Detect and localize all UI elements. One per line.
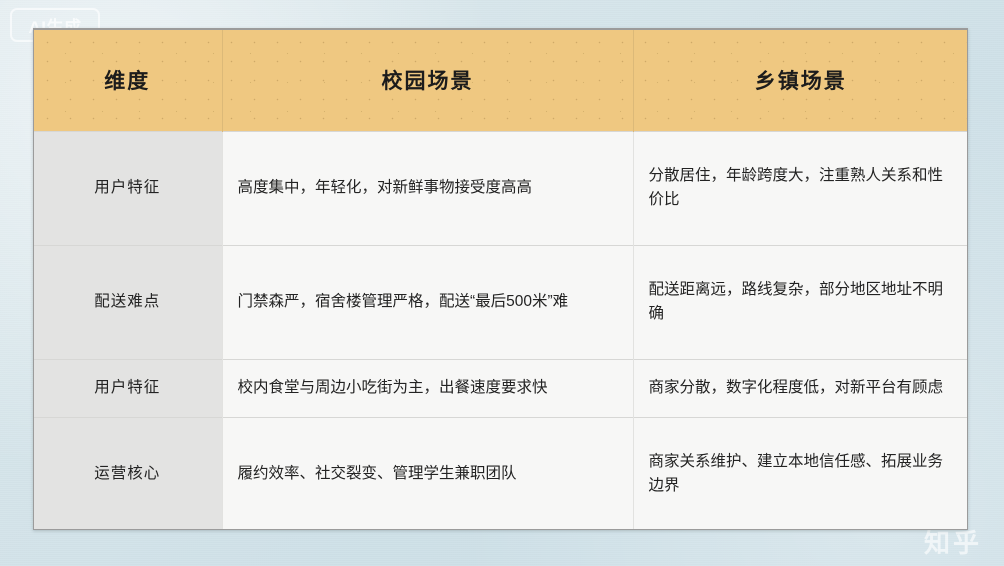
column-header-campus: 校园场景 <box>222 28 633 132</box>
cell-campus-text: 履约效率、社交裂变、管理学生兼职团队 <box>238 462 619 486</box>
cell-campus: 高度集中，年轻化，对新鲜事物接受度高高 <box>222 132 633 246</box>
table-header-row: 维度 校园场景 乡镇场景 <box>33 28 968 132</box>
cell-township-text: 配送距离远，路线复杂，部分地区地址不明确 <box>649 278 955 326</box>
cell-township: 商家关系维护、建立本地信任感、拓展业务边界 <box>633 417 968 530</box>
table-row: 用户特征 高度集中，年轻化，对新鲜事物接受度高高 分散居住，年龄跨度大，注重熟人… <box>33 132 968 246</box>
cell-township: 分散居住，年龄跨度大，注重熟人关系和性价比 <box>633 132 968 246</box>
column-header-township: 乡镇场景 <box>633 28 968 132</box>
cell-dimension: 运营核心 <box>33 417 222 530</box>
cell-township: 配送距离远，路线复杂，部分地区地址不明确 <box>633 245 968 359</box>
table-row: 用户特征 校内食堂与周边小吃街为主，出餐速度要求快 商家分散，数字化程度低，对新… <box>33 359 968 417</box>
comparison-table-container: 维度 校园场景 乡镇场景 用户特征 高度集中，年轻化，对新鲜事物接受度高高 分散… <box>33 28 968 530</box>
cell-campus-text: 门禁森严，宿舍楼管理严格，配送“最后500米”难 <box>238 290 619 314</box>
cell-dimension: 用户特征 <box>33 132 222 246</box>
cell-campus: 履约效率、社交裂变、管理学生兼职团队 <box>222 417 633 530</box>
cell-campus-text: 校内食堂与周边小吃街为主，出餐速度要求快 <box>238 376 619 400</box>
table-header: 维度 校园场景 乡镇场景 <box>33 28 968 132</box>
cell-campus-text: 高度集中，年轻化，对新鲜事物接受度高高 <box>238 176 619 200</box>
cell-campus: 校内食堂与周边小吃街为主，出餐速度要求快 <box>222 359 633 417</box>
table-row: 配送难点 门禁森严，宿舍楼管理严格，配送“最后500米”难 配送距离远，路线复杂… <box>33 245 968 359</box>
table-body: 用户特征 高度集中，年轻化，对新鲜事物接受度高高 分散居住，年龄跨度大，注重熟人… <box>33 132 968 531</box>
cell-township-text: 分散居住，年龄跨度大，注重熟人关系和性价比 <box>649 164 955 212</box>
cell-township-text: 商家关系维护、建立本地信任感、拓展业务边界 <box>649 450 955 498</box>
cell-township: 商家分散，数字化程度低，对新平台有顾虑 <box>633 359 968 417</box>
cell-campus: 门禁森严，宿舍楼管理严格，配送“最后500米”难 <box>222 245 633 359</box>
cell-township-text: 商家分散，数字化程度低，对新平台有顾虑 <box>649 376 955 400</box>
column-header-dimension: 维度 <box>33 28 222 132</box>
table-row: 运营核心 履约效率、社交裂变、管理学生兼职团队 商家关系维护、建立本地信任感、拓… <box>33 417 968 530</box>
cell-dimension: 用户特征 <box>33 359 222 417</box>
cell-dimension: 配送难点 <box>33 245 222 359</box>
comparison-table: 维度 校园场景 乡镇场景 用户特征 高度集中，年轻化，对新鲜事物接受度高高 分散… <box>33 28 968 530</box>
